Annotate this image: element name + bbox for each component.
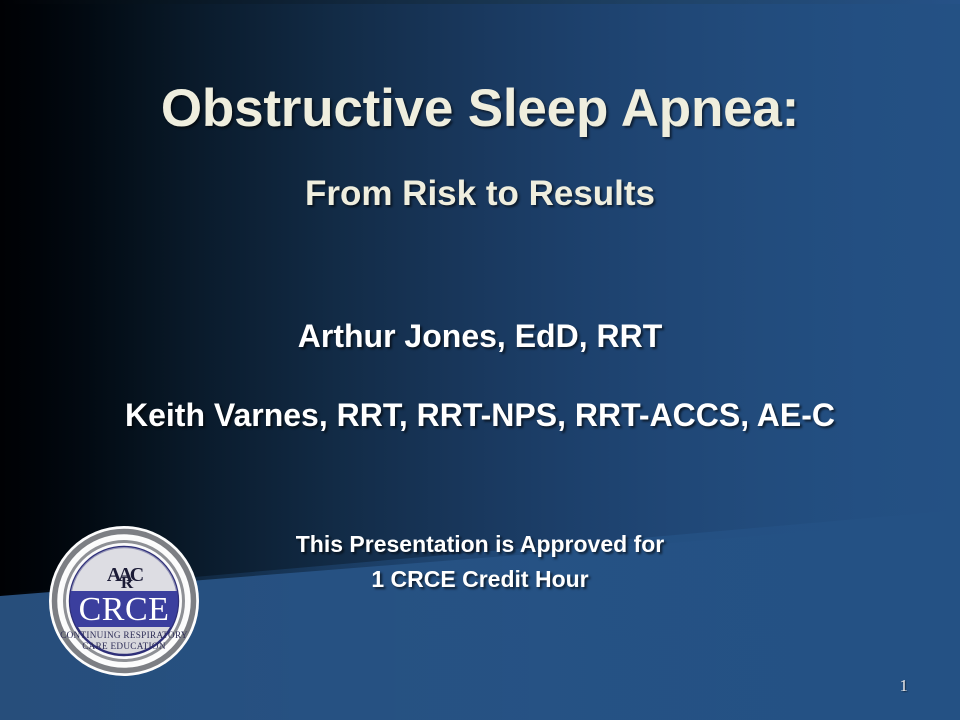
- crce-tagline-line-2: CARE EDUCATION: [82, 641, 166, 651]
- slide-page-number: 1: [900, 676, 909, 696]
- presentation-slide: Obstructive Sleep Apnea: From Risk to Re…: [0, 0, 960, 720]
- author-name-secondary: Keith Varnes, RRT, RRT-NPS, RRT-ACCS, AE…: [0, 397, 960, 434]
- slide-title: Obstructive Sleep Apnea:: [0, 78, 960, 139]
- svg-text:R: R: [121, 573, 134, 592]
- author-name-primary: Arthur Jones, EdD, RRT: [0, 318, 960, 355]
- slide-top-edge-strip: [0, 0, 960, 4]
- crce-wordmark: CRCE: [79, 591, 170, 628]
- crce-tagline-line-1: CONTINUING RESPIRATORY: [60, 630, 188, 640]
- slide-subtitle: From Risk to Results: [0, 174, 960, 214]
- crce-seal-logo: AAC R CRCE CONTINUING RESPIRATORY CARE E…: [48, 525, 200, 677]
